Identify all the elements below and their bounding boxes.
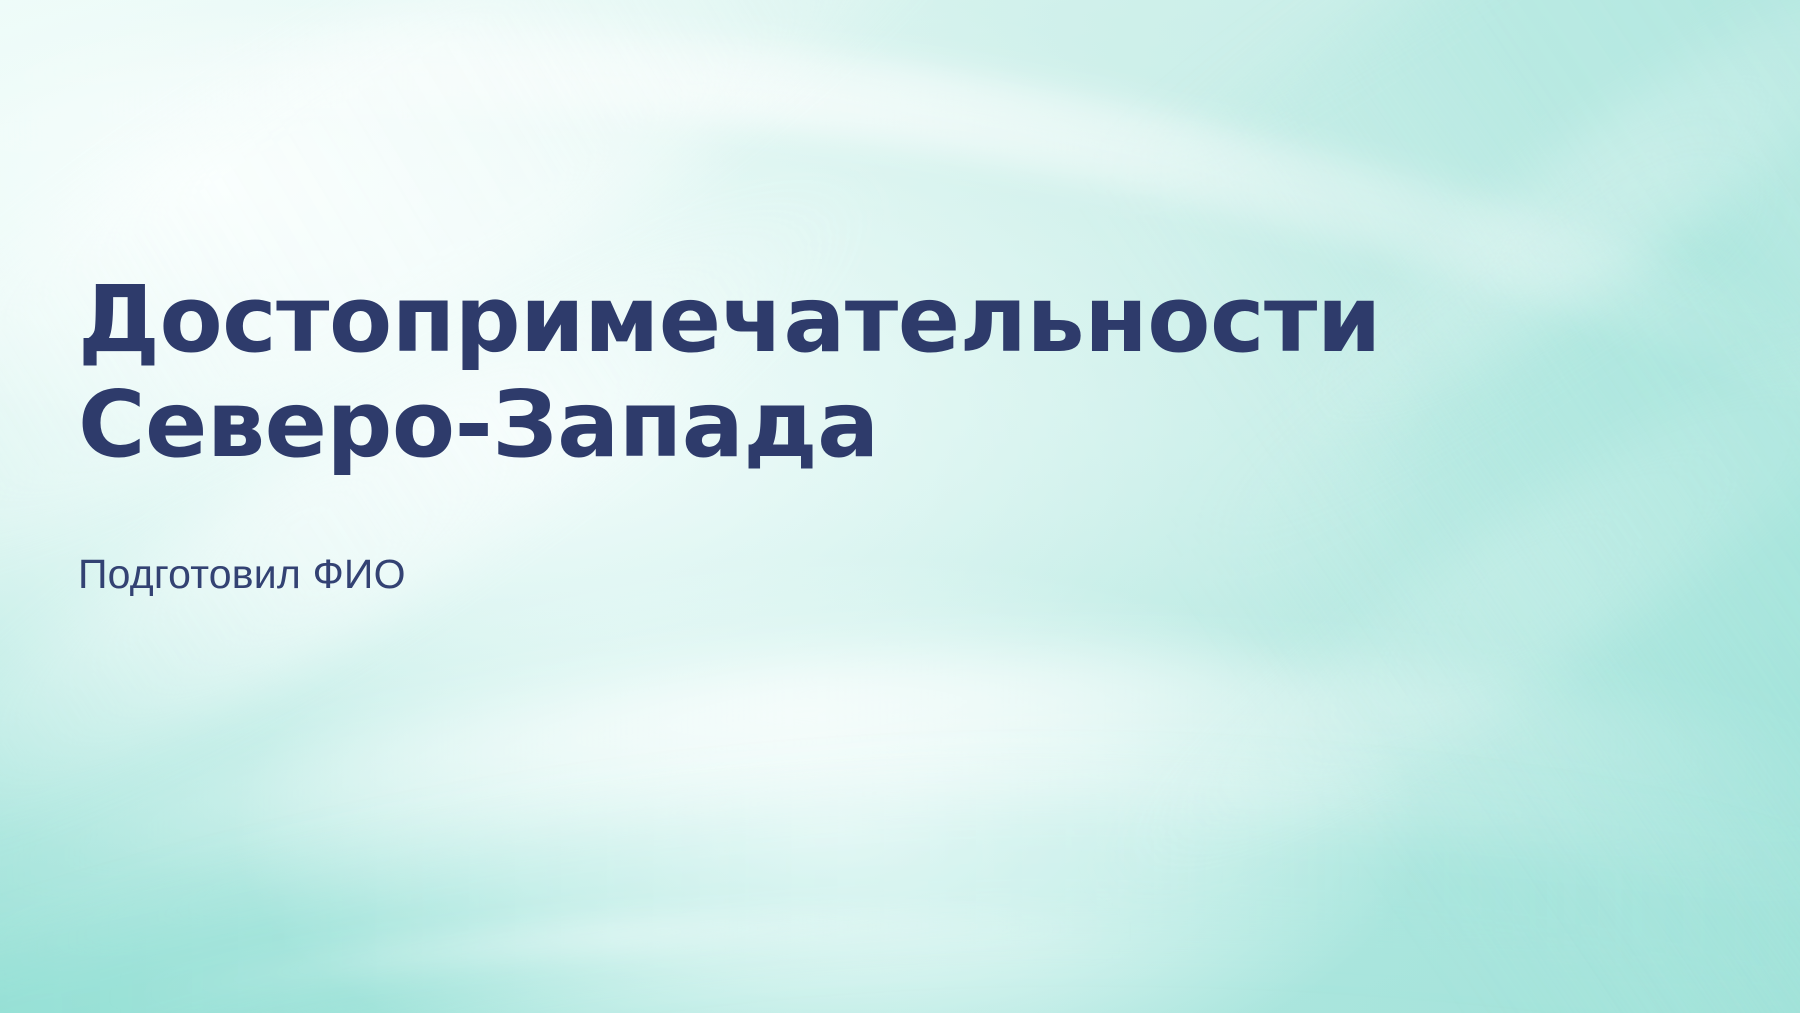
slide-subtitle: Подготовил ФИО: [78, 478, 1558, 599]
page-title: Достопримечательности Северо-Запада: [78, 268, 1558, 478]
slide-text-block: Достопримечательности Северо-Запада Подг…: [78, 268, 1558, 599]
title-slide: Достопримечательности Северо-Запада Подг…: [0, 0, 1800, 1013]
